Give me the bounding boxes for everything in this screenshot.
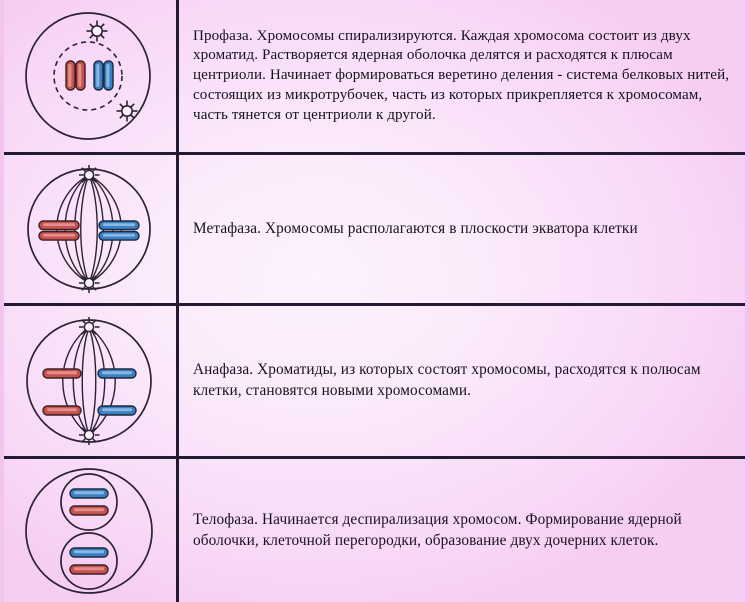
top-nucleus-chromosomes [70, 489, 108, 515]
red-chromatids [43, 369, 81, 415]
red-chromosome-pair [66, 61, 85, 90]
prophase-text-cell: Профаза. Хромосомы спирализируются. Кажд… [179, 0, 745, 152]
telophase-diagram-cell [4, 459, 179, 602]
right-edge-strip [745, 0, 749, 602]
daughter-nucleus-top [61, 474, 117, 530]
table-row-anaphase: Анафаза. Хроматиды, из которых состоят х… [4, 303, 745, 456]
anaphase-diagram-cell [4, 306, 179, 456]
blue-chromosome-pair [94, 61, 113, 90]
cell-membrane [27, 320, 151, 442]
prophase-description: Профаза. Хромосомы спирализируются. Кажд… [193, 27, 735, 125]
blue-chromosomes-equator [99, 221, 139, 240]
spindle-fibers [63, 327, 116, 435]
cell-membrane [26, 13, 150, 139]
anaphase-description: Анафаза. Хроматиды, из которых состоят х… [193, 360, 735, 401]
metaphase-text-cell: Метафаза. Хромосомы располагаются в плос… [179, 155, 745, 303]
prophase-diagram-cell [4, 0, 179, 152]
table-row-telophase: Телофаза. Начинается деспирализация хром… [4, 456, 745, 602]
red-chromosomes-equator [39, 221, 79, 240]
anaphase-cell-diagram [10, 310, 170, 452]
centriole-icon-top [87, 21, 108, 42]
bottom-nucleus-chromosomes [70, 548, 108, 574]
mitosis-phases-figure: Профаза. Хромосомы спирализируются. Кажд… [0, 0, 749, 602]
telophase-cell-diagram [10, 463, 170, 599]
table-row-metaphase: Метафаза. Хромосомы располагаются в плос… [4, 152, 745, 303]
metaphase-cell-diagram [10, 159, 170, 299]
table-row-prophase: Профаза. Хромосомы спирализируются. Кажд… [4, 0, 745, 152]
telophase-description: Телофаза. Начинается деспирализация хром… [193, 510, 735, 551]
phases-table: Профаза. Хромосомы спирализируются. Кажд… [4, 0, 745, 602]
metaphase-diagram-cell [4, 155, 179, 303]
telophase-text-cell: Телофаза. Начинается деспирализация хром… [179, 459, 745, 602]
daughter-nucleus-bottom [61, 533, 117, 589]
anaphase-text-cell: Анафаза. Хроматиды, из которых состоят х… [179, 306, 745, 456]
prophase-cell-diagram [10, 6, 170, 146]
metaphase-description: Метафаза. Хромосомы располагаются в плос… [193, 219, 638, 240]
